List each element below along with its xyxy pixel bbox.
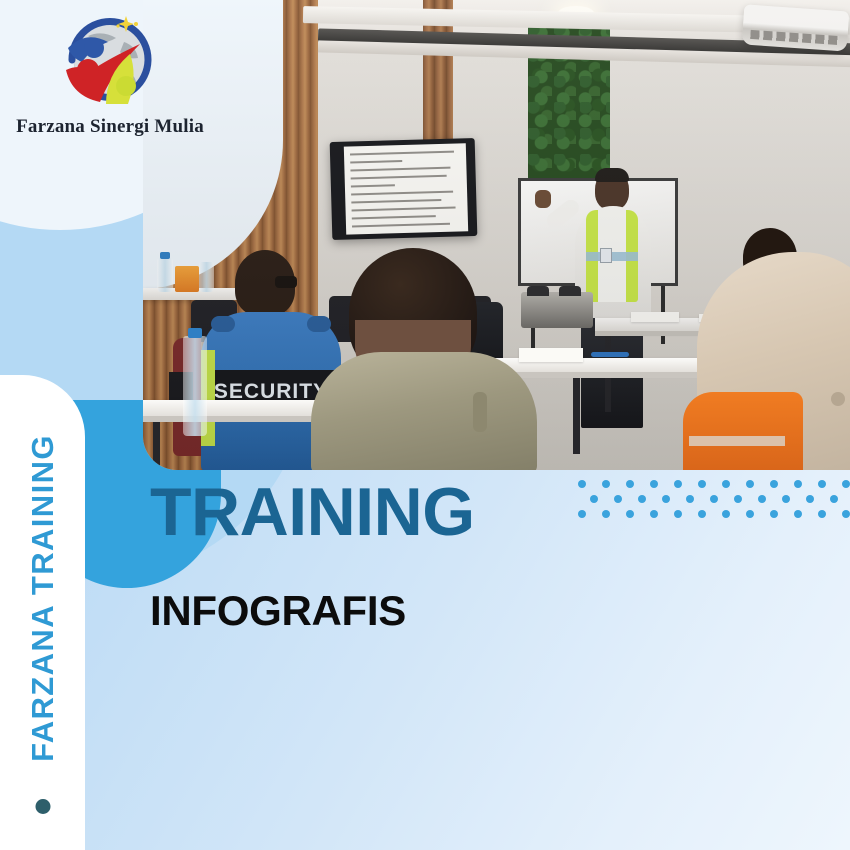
dot: [770, 510, 778, 518]
dot: [674, 510, 682, 518]
papers-on-table: [519, 348, 583, 362]
dot: [842, 480, 850, 488]
dot: [842, 510, 850, 518]
dot: [782, 495, 790, 503]
dot: [734, 495, 742, 503]
dot: [746, 510, 754, 518]
dot: [818, 480, 826, 488]
water-bottle: [183, 336, 207, 436]
dot: [830, 495, 838, 503]
bottle-cap: [188, 328, 202, 338]
dot: [794, 510, 802, 518]
dot: [650, 510, 658, 518]
dot: [638, 495, 646, 503]
dot: [806, 495, 814, 503]
dot: [602, 510, 610, 518]
dot: [722, 480, 730, 488]
table-leg: [153, 422, 160, 470]
dot: [590, 495, 598, 503]
dot: [710, 495, 718, 503]
dot: [602, 480, 610, 488]
dot: [578, 510, 586, 518]
page-subtitle: INFOGRAFIS: [150, 590, 406, 632]
front-table-edge: [143, 416, 339, 422]
page-title: TRAINING: [150, 478, 475, 546]
dot: [758, 495, 766, 503]
training-photo: SECURITY: [143, 0, 850, 470]
brand-name: Farzana Sinergi Mulia: [10, 116, 210, 138]
dot: [746, 480, 754, 488]
dot: [614, 495, 622, 503]
dot: [578, 480, 586, 488]
dot: [650, 480, 658, 488]
globe-people-logo-icon: [48, 8, 168, 118]
bullet-dot-icon: [35, 799, 50, 814]
table-leg: [573, 378, 580, 454]
dot: [698, 510, 706, 518]
poster-canvas: SECURITY: [0, 0, 850, 850]
dot: [770, 480, 778, 488]
dot: [686, 495, 694, 503]
dot: [698, 480, 706, 488]
dot: [662, 495, 670, 503]
dot: [794, 480, 802, 488]
dot: [722, 510, 730, 518]
front-table: [143, 400, 339, 416]
dot: [818, 510, 826, 518]
decorative-dot-grid: [578, 480, 846, 524]
dot: [626, 510, 634, 518]
dot: [674, 480, 682, 488]
dot: [626, 480, 634, 488]
left-sidebar-panel: FARZANA TRAINING: [0, 375, 85, 850]
pen: [591, 352, 629, 357]
sidebar-vertical-label: FARZANA TRAINING: [25, 434, 61, 762]
brand-logo: Farzana Sinergi Mulia: [10, 8, 220, 148]
